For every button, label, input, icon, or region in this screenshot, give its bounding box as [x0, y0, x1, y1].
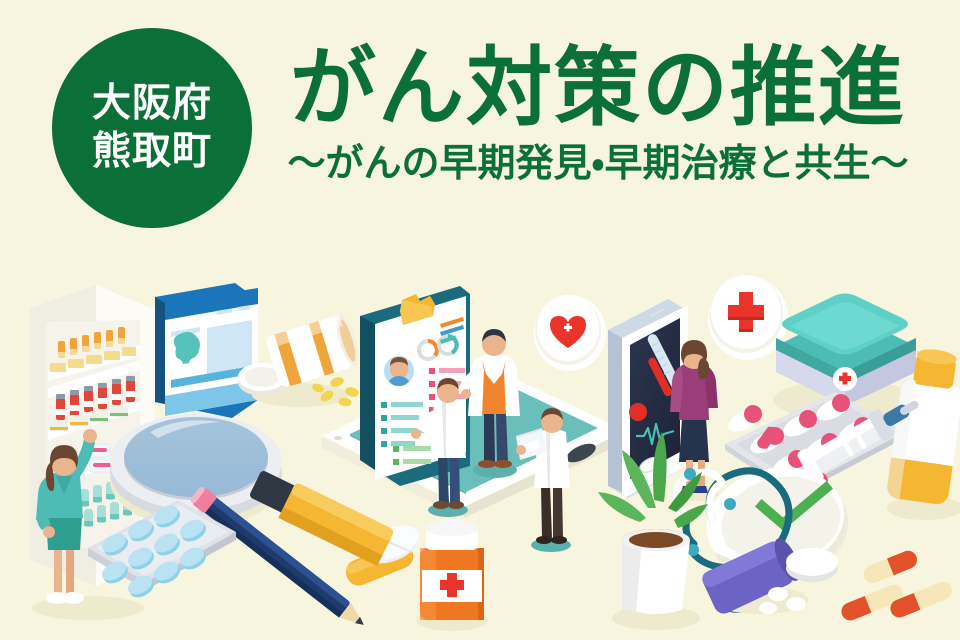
browser-window-card — [155, 283, 258, 418]
badge-prefecture: 大阪府 — [92, 82, 212, 126]
municipality-badge: 大阪府 熊取町 — [52, 28, 252, 228]
heart-cross-badge — [534, 295, 606, 371]
banner-header: 大阪府 熊取町 がん対策の推進 〜がんの早期発見・早期治療と共生〜 — [0, 0, 960, 230]
page-subtitle: 〜がんの早期発見・早期治療と共生〜 — [258, 142, 938, 188]
orange-medicine-jar — [416, 520, 488, 631]
title-block: がん対策の推進 〜がんの早期発見・早期治療と共生〜 — [258, 40, 938, 188]
page-title: がん対策の推進 — [258, 40, 938, 136]
badge-town: 熊取町 — [92, 130, 212, 174]
cancer-measures-banner: 大阪府 熊取町 がん対策の推進 〜がんの早期発見・早期治療と共生〜 — [0, 0, 960, 640]
